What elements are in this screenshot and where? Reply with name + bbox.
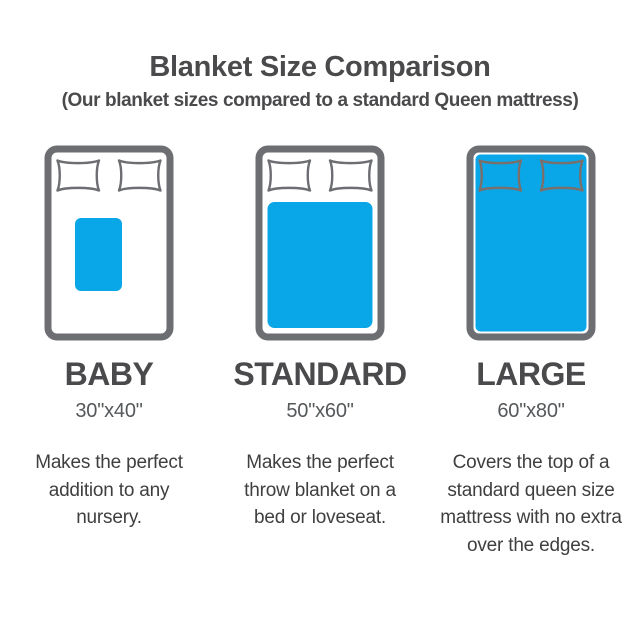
bed-diagram-baby <box>44 145 174 341</box>
pillow-left-icon <box>58 161 100 191</box>
infographic-page: Blanket Size Comparison (Our blanket siz… <box>0 0 640 640</box>
size-name-standard: STANDARD <box>233 358 406 390</box>
comparison-column-large: LARGE 60"x80" Covers the top of a standa… <box>430 145 632 559</box>
size-description-baby: Makes the perfect addition to any nurser… <box>16 449 202 532</box>
size-dimensions-baby: 30"x40" <box>75 401 142 421</box>
size-description-large: Covers the top of a standard queen size … <box>438 449 624 559</box>
blanket-overlay-icon <box>268 202 373 328</box>
pillow-left-icon <box>269 161 311 191</box>
bed-diagram-standard <box>255 145 385 341</box>
blanket-overlay-icon <box>476 155 587 332</box>
comparison-column-baby: BABY 30"x40" Makes the perfect addition … <box>8 145 210 559</box>
pillow-right-icon <box>330 161 372 191</box>
blanket-overlay-icon <box>75 218 122 291</box>
bed-diagram-large <box>466 145 596 341</box>
comparison-columns: BABY 30"x40" Makes the perfect addition … <box>0 145 640 559</box>
size-dimensions-standard: 50"x60" <box>286 401 353 421</box>
comparison-column-standard: STANDARD 50"x60" Makes the perfect throw… <box>219 145 421 559</box>
pillow-right-icon <box>119 161 161 191</box>
size-name-baby: BABY <box>65 358 154 390</box>
page-subtitle: (Our blanket sizes compared to a standar… <box>0 91 640 111</box>
size-name-large: LARGE <box>476 358 586 390</box>
mattress-with-two-pillows-icon <box>466 145 596 341</box>
mattress-with-two-pillows-icon <box>44 145 174 341</box>
page-title: Blanket Size Comparison <box>0 52 640 82</box>
size-description-standard: Makes the perfect throw blanket on a bed… <box>227 449 413 532</box>
header: Blanket Size Comparison (Our blanket siz… <box>0 52 640 111</box>
mattress-with-two-pillows-icon <box>255 145 385 341</box>
size-dimensions-large: 60"x80" <box>497 401 564 421</box>
